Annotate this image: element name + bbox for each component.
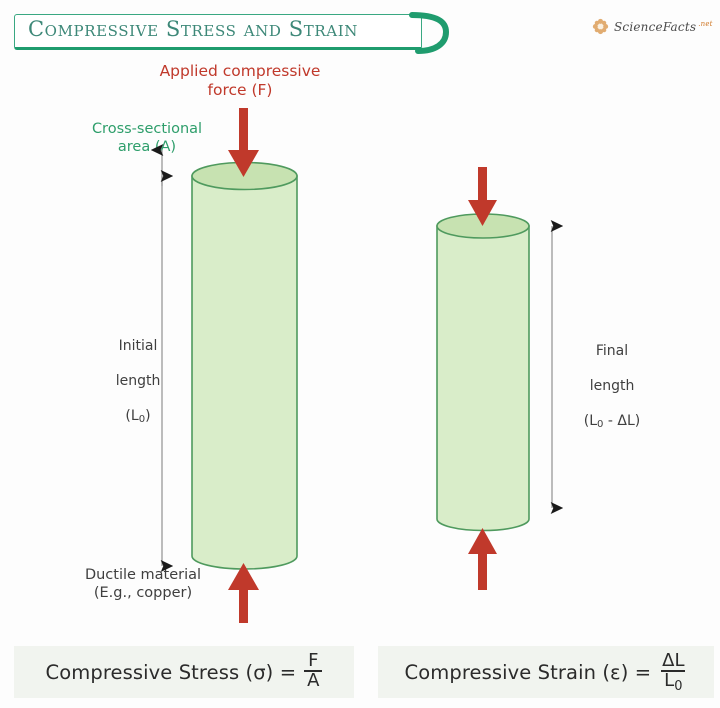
- right-cylinder: [437, 214, 529, 531]
- strain-numerator: ΔL: [659, 652, 687, 670]
- strain-denominator: L0: [661, 670, 685, 690]
- diagram-canvas: Compressive Stress and Strain ScienceFac…: [0, 0, 720, 708]
- right-cylinder-body: [437, 226, 529, 531]
- stress-fraction: F A: [304, 652, 322, 691]
- stress-formula-band: Compressive Stress (σ) = F A: [14, 646, 354, 698]
- strain-formula-label: Compressive Strain (ε) =: [405, 661, 652, 684]
- stress-formula-label: Compressive Stress (σ) =: [46, 661, 297, 684]
- left-cylinder-body: [192, 176, 297, 569]
- strain-fraction: ΔL L0: [659, 652, 687, 691]
- strain-formula-band: Compressive Strain (ε) = ΔL L0: [378, 646, 714, 698]
- right-bottom-force-arrow: [468, 528, 497, 590]
- left-cylinder: [192, 163, 297, 570]
- stress-denominator: A: [304, 670, 322, 690]
- left-bottom-force-arrow: [228, 563, 259, 623]
- specimen-illustration: [0, 0, 720, 640]
- stress-numerator: F: [305, 652, 321, 670]
